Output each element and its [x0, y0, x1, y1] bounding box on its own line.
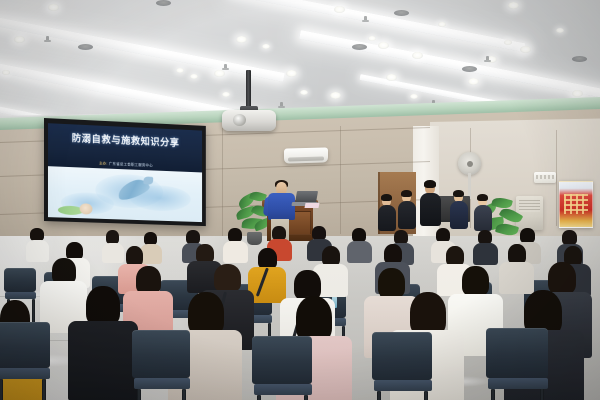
person-hair: [562, 230, 577, 245]
ceiling-vent: [462, 66, 477, 72]
projector-lens: [233, 114, 246, 126]
chair-seat: [488, 378, 548, 389]
chair-leg: [257, 395, 261, 400]
person-hair: [446, 246, 464, 266]
ceiling-downlight: [222, 92, 230, 97]
person-torso: [140, 244, 162, 264]
slide-illustration: [48, 166, 202, 222]
person-hair: [258, 248, 277, 269]
ceiling-downlight: [334, 6, 345, 13]
chair-backrest: [132, 330, 190, 378]
slide-subtitle-organizer-label: 主办:: [99, 161, 108, 165]
projector-icon: [222, 110, 276, 131]
ceiling-downlight: [286, 70, 297, 77]
chair-seat: [0, 368, 50, 379]
chair-leg: [304, 395, 308, 400]
ceiling-sprinkler: [46, 36, 49, 42]
ceiling-downlight: [368, 36, 376, 41]
promotional-banner: [559, 181, 593, 228]
person-hair: [478, 230, 492, 244]
ceiling-sprinkler: [364, 16, 367, 22]
ceiling-vent: [156, 0, 171, 6]
person-torso: [26, 240, 49, 262]
person-hair: [322, 246, 340, 266]
ceiling-downlight: [48, 4, 59, 11]
ceiling-downlight: [214, 70, 225, 77]
person-hair: [228, 228, 242, 242]
chair-leg: [377, 391, 381, 400]
ceiling-downlight: [520, 46, 531, 53]
ceiling-downlight: [572, 90, 583, 97]
ceiling-downlight: [330, 92, 341, 99]
ceiling-downlight: [190, 74, 198, 79]
wall-control-box: [534, 172, 556, 183]
ceiling-downlight: [412, 52, 423, 59]
person-hair: [508, 244, 526, 264]
chair-seat: [5, 292, 36, 299]
ceiling-downlight: [556, 28, 564, 33]
person-torso: [450, 201, 468, 229]
person-hair: [394, 230, 408, 244]
ceiling-downlight: [410, 94, 418, 99]
person-hair: [520, 228, 535, 243]
projection-screen: 防溺自救与施救知识分享 主办: 广东省总工会职工服务中心 协办: 广东省城乡建设…: [44, 118, 206, 226]
person-hair: [401, 190, 412, 197]
ceiling-downlight: [378, 42, 389, 49]
person-hair: [186, 230, 200, 244]
person-torso: [347, 241, 372, 263]
ceiling-vent: [394, 10, 409, 16]
chair-leg: [540, 389, 544, 400]
chair-backrest: [252, 336, 312, 384]
slide-subtitle-organizer-text: 广东省总工会职工服务中心: [109, 161, 153, 167]
wall-seam: [340, 126, 341, 234]
person-hair: [462, 266, 489, 296]
person-torso: [68, 321, 138, 400]
plant-leaf: [495, 221, 519, 238]
laptop-icon: [295, 191, 318, 203]
chair-leg: [182, 389, 186, 400]
chair-backrest: [372, 332, 432, 380]
chair-leg: [424, 391, 428, 400]
ceiling-sprinkler: [280, 102, 283, 108]
person-hair: [436, 228, 450, 242]
ac-grille: [519, 200, 540, 212]
person-torso: [398, 201, 416, 229]
person-hair: [548, 262, 576, 294]
chair-leg: [137, 389, 141, 400]
person-hair: [424, 180, 436, 188]
ceiling-downlight: [2, 70, 10, 75]
wall-seam: [556, 130, 557, 226]
chair-seat: [254, 384, 312, 395]
ceiling-downlight: [438, 22, 446, 27]
ceiling-downlight: [176, 68, 184, 73]
person-torso: [420, 193, 441, 226]
swimmer-illustration: [79, 203, 92, 214]
person-hair: [477, 194, 488, 201]
ceiling-downlight: [14, 36, 25, 43]
ceiling-sprinkler: [224, 64, 227, 70]
person-hair: [381, 194, 392, 201]
person-hair: [106, 230, 119, 244]
person-torso: [473, 243, 498, 265]
seminar-hall-photo: 防溺自救与施救知识分享 主办: 广东省总工会职工服务中心 协办: 广东省城乡建设…: [0, 0, 600, 400]
person-hair: [453, 190, 464, 197]
person-torso: [102, 243, 124, 263]
ceiling-downlight: [468, 78, 479, 85]
ceiling-downlight: [300, 90, 308, 95]
podium-papers: [304, 203, 319, 208]
person-torso: [223, 241, 248, 263]
chair-leg: [0, 379, 3, 400]
ceiling-downlight: [386, 74, 397, 81]
person-hair: [214, 264, 241, 292]
chair-backrest: [486, 328, 548, 378]
person-torso: [499, 262, 534, 294]
ceiling-vent: [572, 56, 587, 62]
ceiling-downlight: [262, 44, 270, 49]
wall-fan-icon: [458, 152, 481, 175]
person-hair: [272, 226, 286, 240]
banner-text-grid: [564, 194, 588, 214]
ceiling-downlight: [504, 40, 512, 45]
wall-seam: [222, 128, 223, 238]
person-torso: [474, 205, 492, 231]
chair-backrest: [0, 322, 50, 368]
ceiling-downlight: [236, 36, 247, 43]
chair-backrest: [4, 268, 36, 292]
plant-pot: [247, 232, 262, 245]
ceiling-vent: [78, 44, 93, 50]
air-conditioner-icon: [284, 147, 328, 163]
ceiling-vent: [352, 44, 367, 50]
person-hair: [312, 226, 326, 240]
presenter-torso: [268, 193, 295, 220]
projection-screen-surface: 防溺自救与施救知识分享 主办: 广东省总工会职工服务中心 协办: 广东省城乡建设…: [48, 123, 202, 222]
person-hair: [384, 244, 402, 264]
chair-leg: [42, 379, 46, 400]
chair-leg: [491, 389, 495, 400]
chair-seat: [134, 378, 190, 389]
person-hair: [378, 268, 405, 298]
person-hair: [86, 286, 120, 326]
ceiling-downlight: [508, 2, 519, 9]
chair-seat: [374, 380, 432, 391]
person-torso: [378, 205, 396, 231]
ceiling-sprinkler: [486, 56, 489, 62]
person-hair: [352, 228, 366, 242]
